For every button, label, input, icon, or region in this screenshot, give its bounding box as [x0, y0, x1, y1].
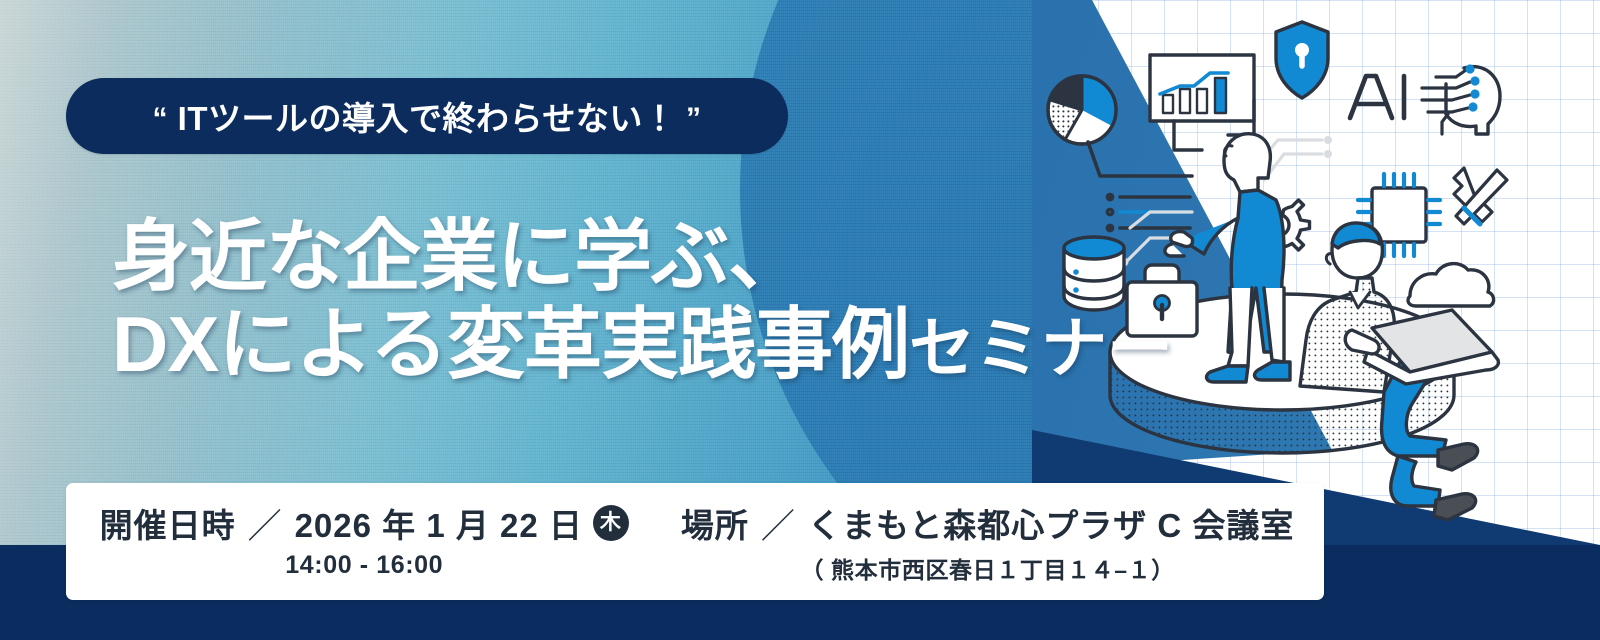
event-date-column: 開催日時 ／ 2026 年 1 月 22 日 木 14:00 - 16:00 [100, 499, 629, 580]
seminar-banner: “ ITツールの導入で終わらせない！ ” 身近な企業に学ぶ、 DXによる変革実践… [0, 0, 1600, 640]
event-date-row: 開催日時 ／ 2026 年 1 月 22 日 木 [100, 499, 629, 548]
event-place-row: 場所 ／ くまもと森都心プラザ C 会議室 [681, 499, 1295, 548]
place-separator-icon: ／ [761, 499, 796, 548]
quote-close: ” [686, 102, 702, 135]
tagline-label: ITツールの導入で終わらせない！ [178, 100, 677, 137]
date-label: 開催日時 [100, 499, 236, 547]
title-line-2-main: DXによる変革実践事例 [112, 300, 909, 388]
date-separator-icon: ／ [248, 499, 283, 548]
date-value: 2026 年 1 月 22 日 [295, 499, 583, 547]
title-line-2: DXによる変革実践事例セミナー [112, 300, 1172, 388]
event-address: （ 熊本市西区春日１丁目１４–１） [800, 551, 1174, 585]
place-value: くまもと森都心プラザ C 会議室 [808, 499, 1295, 547]
title-line-1: 身近な企業に学ぶ、 [112, 212, 1172, 300]
tagline-badge: “ ITツールの導入で終わらせない！ ” [66, 78, 788, 154]
tagline-text: “ ITツールの導入で終わらせない！ ” [152, 92, 701, 140]
quote-open: “ [152, 102, 168, 135]
event-info-box: 開催日時 ／ 2026 年 1 月 22 日 木 14:00 - 16:00 場… [66, 483, 1324, 600]
event-time: 14:00 - 16:00 [285, 551, 443, 580]
title-line-2-tail: セミナー [909, 311, 1173, 385]
day-of-week-badge: 木 [593, 505, 629, 541]
page-title: 身近な企業に学ぶ、 DXによる変革実践事例セミナー [112, 212, 1172, 388]
event-place-column: 場所 ／ くまもと森都心プラザ C 会議室 （ 熊本市西区春日１丁目１４–１） [681, 499, 1295, 585]
place-label: 場所 [681, 499, 749, 547]
